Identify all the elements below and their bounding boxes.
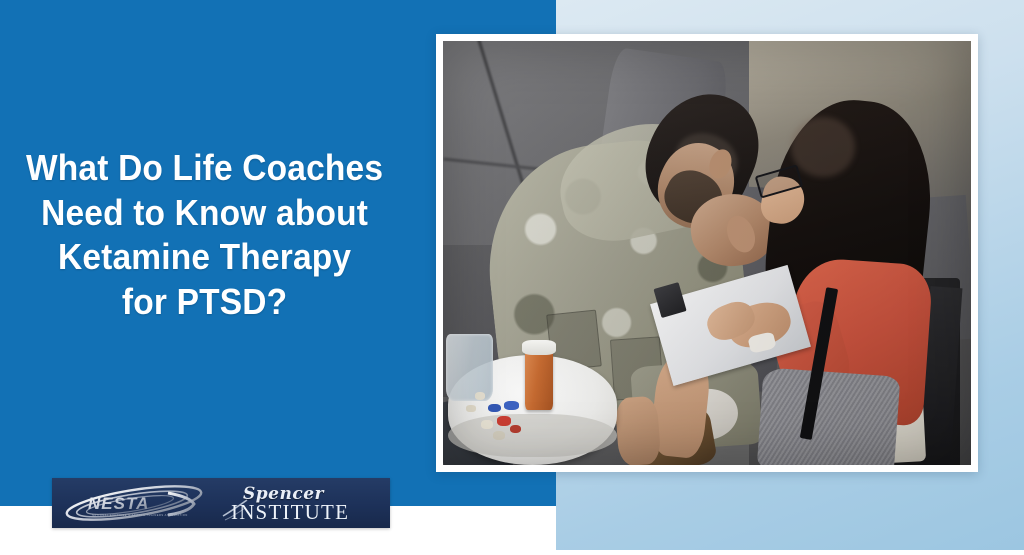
photo-frame bbox=[436, 34, 978, 472]
banner-canvas: What Do Life Coaches Need to Know about … bbox=[0, 0, 1024, 555]
nesta-swoosh-icon: NESTA NATIONAL EXERCISE & SPORTS TRAINER… bbox=[60, 484, 210, 522]
photo-pill bbox=[481, 420, 493, 428]
logo-bar: NESTA NATIONAL EXERCISE & SPORTS TRAINER… bbox=[52, 478, 390, 528]
photo-pill-bottle bbox=[525, 346, 554, 410]
photo-therapist-skirt bbox=[756, 367, 900, 465]
photo-pill bbox=[475, 392, 486, 400]
nesta-logo[interactable]: NESTA NATIONAL EXERCISE & SPORTS TRAINER… bbox=[52, 478, 217, 528]
nesta-wordmark: NESTA bbox=[88, 494, 149, 513]
headline-line-1: What Do Life Coaches bbox=[0, 146, 409, 191]
photo-pill bbox=[510, 425, 522, 433]
headline-line-3: Ketamine Therapy bbox=[0, 235, 409, 280]
nesta-tagline: NATIONAL EXERCISE & SPORTS TRAINERS ASSO… bbox=[92, 513, 188, 517]
headline-line-4: for PTSD? bbox=[0, 280, 409, 325]
photo-pill bbox=[493, 431, 506, 439]
photo-therapist-leg-2 bbox=[615, 396, 662, 465]
photo-pill bbox=[466, 405, 476, 412]
photo-pill bbox=[504, 401, 519, 409]
spencer-institute-logo[interactable]: Spencer INSTITUTE bbox=[217, 478, 377, 528]
photo-water-glass bbox=[446, 334, 494, 402]
therapy-session-photo bbox=[443, 41, 971, 465]
photo-pill bbox=[497, 416, 511, 425]
photo-pill bbox=[488, 404, 501, 412]
spencer-institute-word: INSTITUTE bbox=[231, 500, 349, 525]
photo-therapist-hair-highlight bbox=[791, 117, 854, 176]
photo-pill-bottle-cap bbox=[522, 340, 556, 355]
page-title: What Do Life Coaches Need to Know about … bbox=[0, 146, 409, 325]
headline-line-2: Need to Know about bbox=[0, 191, 409, 236]
photo-side-table-edge bbox=[448, 414, 617, 456]
